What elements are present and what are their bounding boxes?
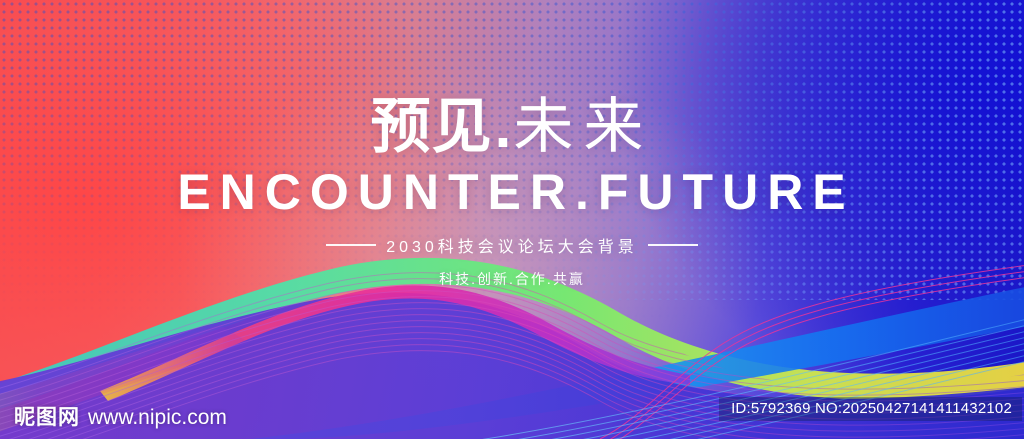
rule-left bbox=[326, 244, 376, 246]
title-cn-light: 未来 bbox=[513, 93, 653, 160]
headline-block: 预见.未来 ENCOUNTER.FUTURE 2030科技会议论坛大会背景 科技… bbox=[0, 96, 1024, 289]
title-cn-bold: 预见 bbox=[371, 93, 493, 160]
subtitle-text: 2030科技会议论坛大会背景 bbox=[386, 233, 638, 257]
title-separator-dot: . bbox=[493, 93, 514, 160]
poster-canvas: 预见.未来 ENCOUNTER.FUTURE 2030科技会议论坛大会背景 科技… bbox=[0, 0, 1024, 439]
subtitle-row: 2030科技会议论坛大会背景 bbox=[0, 233, 1024, 257]
watermark-id: ID:5792369 NO:20250427141411432102 bbox=[719, 397, 1022, 421]
rule-right bbox=[648, 244, 698, 246]
title-en: ENCOUNTER.FUTURE bbox=[0, 166, 1024, 219]
tagline-text: 科技.创新.合作.共赢 bbox=[0, 269, 1024, 289]
title-cn-row: 预见.未来 bbox=[0, 96, 1024, 158]
